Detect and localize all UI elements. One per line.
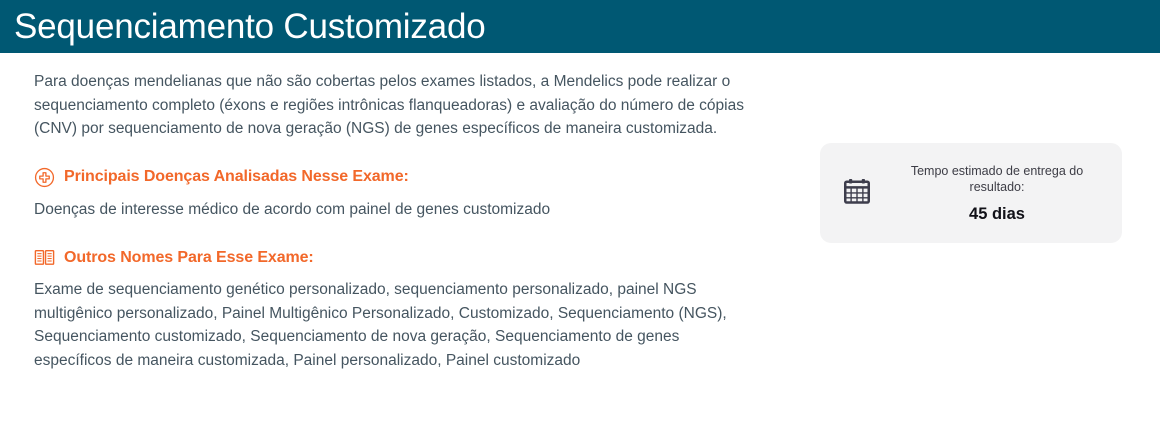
delivery-time-value: 45 dias xyxy=(888,205,1106,224)
medical-cross-circle-icon xyxy=(34,167,55,188)
delivery-time-text: Tempo estimado de entrega do resultado: … xyxy=(888,163,1106,224)
section-body: Doenças de interesse médico de acordo co… xyxy=(34,198,752,222)
exam-detail-page: Sequenciamento Customizado Para doenças … xyxy=(0,0,1160,444)
delivery-time-label: Tempo estimado de entrega do resultado: xyxy=(888,163,1106,195)
section-heading-label: Principais Doenças Analisadas Nesse Exam… xyxy=(64,168,409,186)
section-body: Exame de sequenciamento genético persona… xyxy=(34,278,752,372)
section-heading: Outros Nomes Para Esse Exame: xyxy=(34,247,774,268)
section-principais-doencas: Principais Doenças Analisadas Nesse Exam… xyxy=(34,167,774,222)
open-book-icon xyxy=(34,247,55,268)
page-title: Sequenciamento Customizado xyxy=(0,7,485,47)
calendar-icon xyxy=(840,174,874,208)
delivery-time-card: Tempo estimado de entrega do resultado: … xyxy=(820,143,1122,243)
page-header-banner: Sequenciamento Customizado xyxy=(0,0,1160,53)
intro-paragraph: Para doenças mendelianas que não são cob… xyxy=(34,70,752,141)
main-content: Para doenças mendelianas que não são cob… xyxy=(34,70,774,372)
section-outros-nomes: Outros Nomes Para Esse Exame: Exame de s… xyxy=(34,247,774,372)
section-heading-label: Outros Nomes Para Esse Exame: xyxy=(64,249,314,267)
section-heading: Principais Doenças Analisadas Nesse Exam… xyxy=(34,167,774,188)
